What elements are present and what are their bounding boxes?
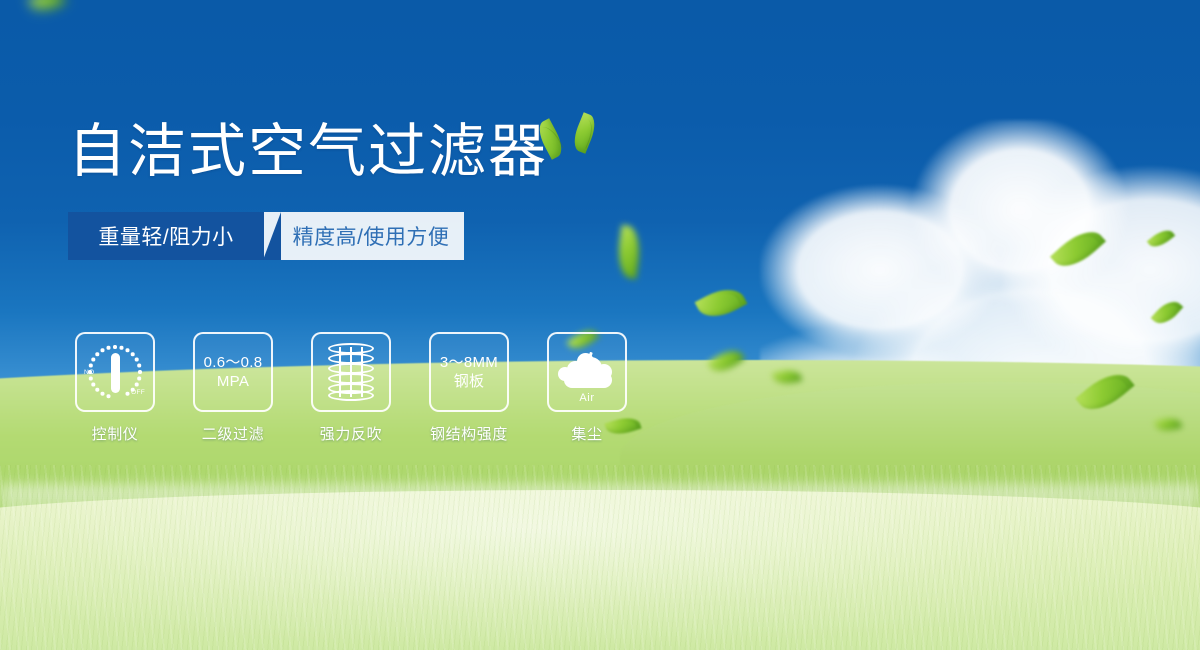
dial-on-label: NO <box>84 369 94 376</box>
sprout-decoration <box>540 112 610 162</box>
banner-content: 自洁式空气过滤器 重量轻/阻力小 精度高/使用方便 <box>68 120 708 260</box>
subtitle-left-text: 重量轻/阻力小 <box>98 221 233 251</box>
grass-texture <box>0 465 1200 650</box>
air-cloud-icon: Air <box>558 352 616 392</box>
subtitle-left-segment: 重量轻/阻力小 <box>68 212 264 260</box>
filter-cartridge-icon <box>328 343 374 401</box>
leaf-icon <box>28 0 66 16</box>
feature-item-dust-collection: Air 集尘 <box>546 332 628 444</box>
feature-list: NO OFF 控制仪 0.6～0.8 MPA 二级过滤 <box>74 332 628 444</box>
subtitle-bar: 重量轻/阻力小 精度高/使用方便 <box>68 212 464 260</box>
feature-label: 集尘 <box>571 423 602 444</box>
leaf-icon <box>1151 296 1184 330</box>
steel-plate-icon: 3～8MM 钢板 <box>440 353 498 391</box>
feature-icon-box: NO OFF <box>75 332 155 412</box>
feature-icon-box: Air <box>547 332 627 412</box>
feature-label: 强力反吹 <box>320 423 382 444</box>
feature-item-controller: NO OFF 控制仪 <box>74 332 156 444</box>
feature-icon-box: 0.6～0.8 MPA <box>193 332 273 412</box>
leaf-icon <box>1050 222 1106 276</box>
dial-gauge-icon: NO OFF <box>84 341 146 403</box>
air-label: Air <box>558 392 616 404</box>
feature-label: 二级过滤 <box>202 423 264 444</box>
page-title: 自洁式空气过滤器 <box>68 120 708 184</box>
pressure-value-icon: 0.6～0.8 MPA <box>204 353 263 391</box>
feature-icon-box <box>311 332 391 412</box>
feature-item-secondary-filter: 0.6～0.8 MPA 二级过滤 <box>192 332 274 444</box>
subtitle-right-text: 精度高/使用方便 <box>293 221 450 251</box>
subtitle-right-segment: 精度高/使用方便 <box>264 212 464 260</box>
dial-off-label: OFF <box>131 389 145 396</box>
leaf-icon <box>695 281 748 326</box>
feature-item-backblow: 强力反吹 <box>310 332 392 444</box>
leaf-icon <box>1147 225 1175 251</box>
dial-needle <box>111 353 120 393</box>
grass-field <box>0 465 1200 650</box>
feature-label: 控制仪 <box>92 423 139 444</box>
feature-item-steel-strength: 3～8MM 钢板 钢结构强度 <box>428 332 510 444</box>
feature-icon-box: 3～8MM 钢板 <box>429 332 509 412</box>
product-banner: 自洁式空气过滤器 重量轻/阻力小 精度高/使用方便 <box>0 0 1200 650</box>
feature-label: 钢结构强度 <box>430 423 508 444</box>
leaf-icon <box>570 112 600 154</box>
